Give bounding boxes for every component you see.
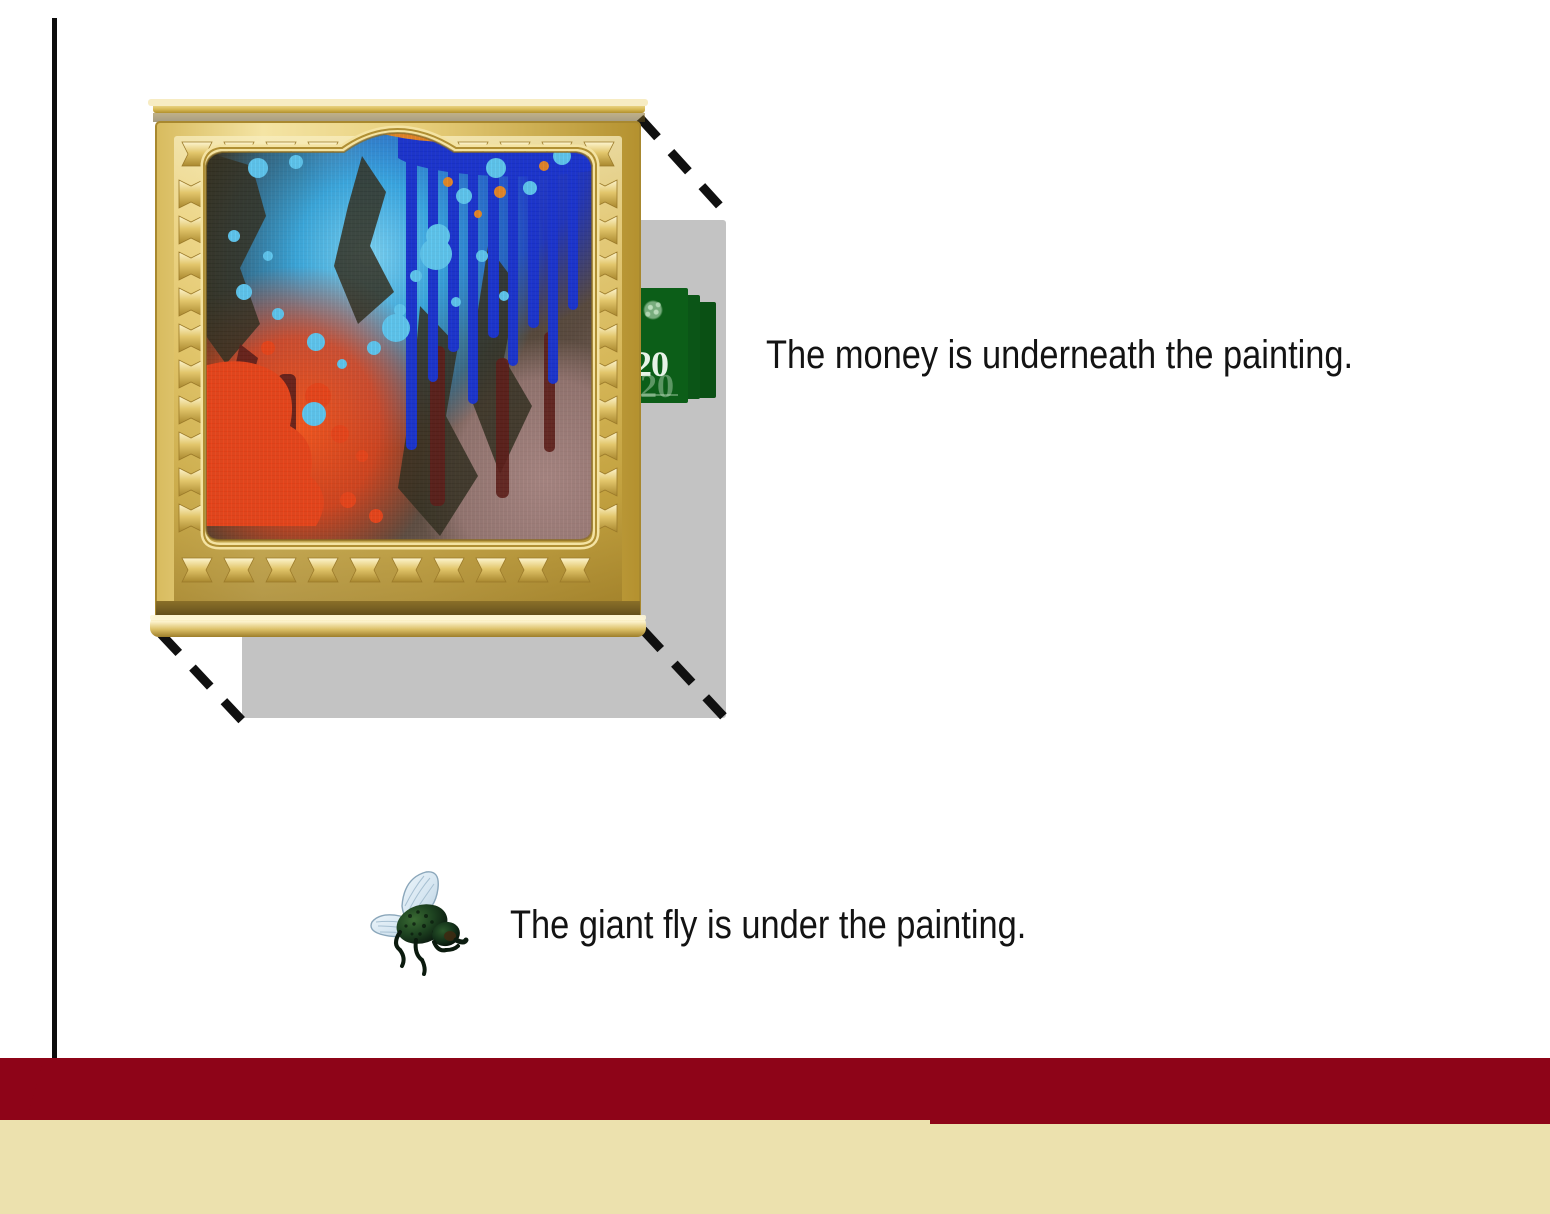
painting-svg: [148, 96, 648, 644]
caption-money: The money is underneath the painting.: [766, 333, 1353, 377]
giant-fly[interactable]: [366, 864, 476, 976]
fly-icon: [366, 864, 476, 976]
fly-proboscis: [456, 940, 466, 942]
frame-bottom-rail: [150, 601, 646, 637]
wall-corner-line: [52, 18, 57, 1060]
dashed-line-bottom-left: [161, 634, 250, 729]
painting-canvas: [198, 102, 602, 550]
framed-painting[interactable]: [148, 96, 648, 644]
frame-top-rail: [148, 99, 648, 122]
caption-fly: The giant fly is under the painting.: [510, 903, 1026, 947]
baseboard: [0, 1058, 1550, 1128]
floor: [0, 1124, 1550, 1214]
dashed-line-top-right: [640, 118, 729, 216]
room-scene: 20 20: [0, 0, 1550, 1214]
